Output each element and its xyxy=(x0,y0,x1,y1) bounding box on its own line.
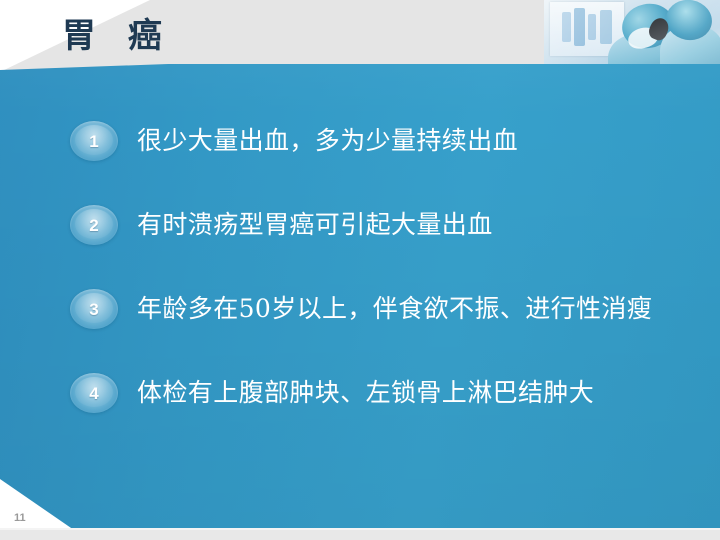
operating-room-photo xyxy=(544,0,720,66)
bullet-number-badge: 3 xyxy=(70,289,118,329)
photo-sheen-overlay xyxy=(544,0,720,66)
bullet-text: 有时溃疡型胃癌可引起大量出血 xyxy=(137,211,493,240)
page-number: 11 xyxy=(14,513,26,524)
bullet-text: 年龄多在50岁以上，伴食欲不振、进行性消瘦 xyxy=(137,295,652,324)
list-item[interactable]: 3 年龄多在50岁以上，伴食欲不振、进行性消瘦 xyxy=(0,286,720,332)
slide-canvas: 胃 癌 1 很少大量出血，多为少量持续出血 2 有时溃疡型胃癌可引起大量出血 3… xyxy=(0,0,720,540)
bullet-number-badge: 2 xyxy=(70,205,118,245)
bullet-number-label: 2 xyxy=(89,217,98,234)
bullet-text: 体检有上腹部肿块、左锁骨上淋巴结肿大 xyxy=(137,379,594,408)
list-item[interactable]: 1 很少大量出血，多为少量持续出血 xyxy=(0,118,720,164)
page-title: 胃 癌 xyxy=(62,16,172,57)
bottom-strip-highlight xyxy=(0,528,720,530)
bullet-number-badge: 4 xyxy=(70,373,118,413)
bullet-number-label: 4 xyxy=(89,385,98,402)
list-item[interactable]: 2 有时溃疡型胃癌可引起大量出血 xyxy=(0,202,720,248)
bullet-number-badge: 1 xyxy=(70,121,118,161)
bullet-number-label: 1 xyxy=(89,133,98,150)
bullet-number-label: 3 xyxy=(89,301,98,318)
bullet-text: 很少大量出血，多为少量持续出血 xyxy=(137,127,518,156)
list-item[interactable]: 4 体检有上腹部肿块、左锁骨上淋巴结肿大 xyxy=(0,370,720,416)
bullet-list: 1 很少大量出血，多为少量持续出血 2 有时溃疡型胃癌可引起大量出血 3 年龄多… xyxy=(0,118,720,454)
